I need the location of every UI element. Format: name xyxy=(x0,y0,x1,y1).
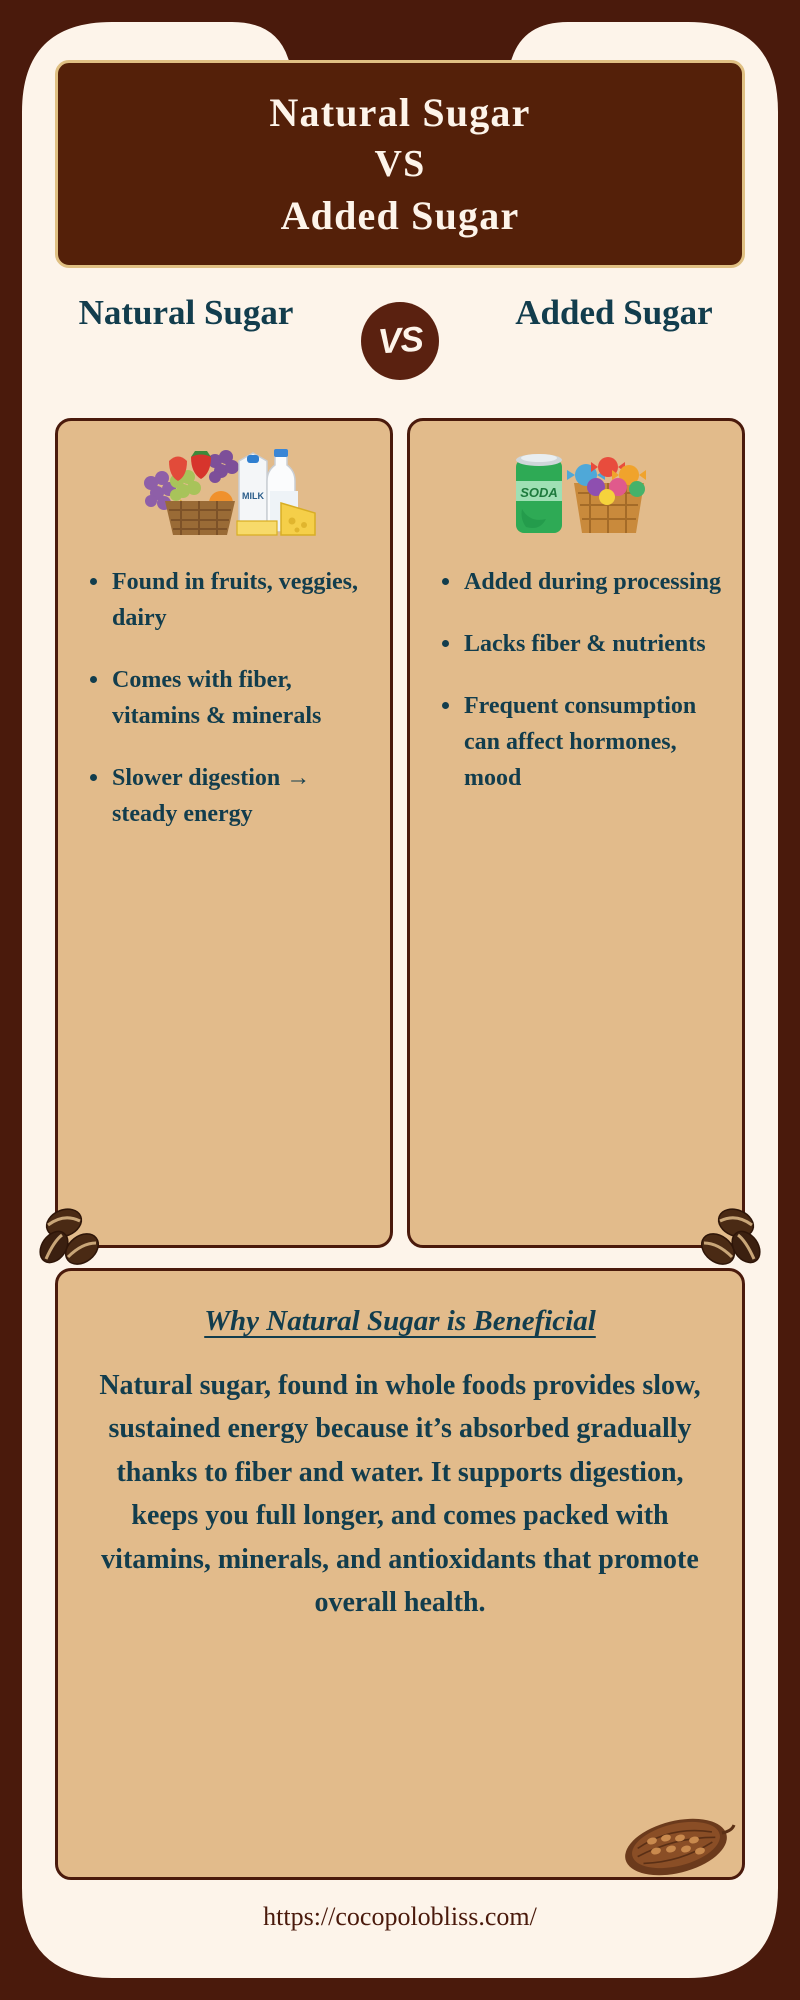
natural-sugar-card: MILK Found in fruits, veggies, dairy C xyxy=(55,418,393,1248)
svg-text:MILK: MILK xyxy=(242,491,264,501)
comparison-cards: MILK Found in fruits, veggies, dairy C xyxy=(55,418,745,1248)
added-sugar-bullets: Added during processing Lacks fiber & nu… xyxy=(426,564,726,796)
column-heading-added: Added Sugar xyxy=(489,290,739,336)
natural-sugar-art: MILK xyxy=(74,431,374,546)
column-heading-natural: Natural Sugar xyxy=(61,290,311,336)
vs-badge-label: VS xyxy=(376,319,423,362)
added-sugar-card: SODA xyxy=(407,418,745,1248)
list-item: Slower digestion → steady energy xyxy=(88,760,370,832)
footer-url[interactable]: https://cocopolobliss.com/ xyxy=(0,1902,800,1932)
list-item: Lacks fiber & nutrients xyxy=(440,626,722,662)
vs-badge: VS xyxy=(361,302,439,380)
fruit-basket-milk-cheese-icon: MILK xyxy=(129,431,319,543)
title-line-3: Added Sugar xyxy=(281,190,520,241)
benefit-body: Natural sugar, found in whole foods prov… xyxy=(88,1364,712,1624)
cocoa-pod-icon xyxy=(616,1805,736,1880)
column-headings: Natural Sugar VS Added Sugar xyxy=(55,290,745,400)
list-item: Added during processing xyxy=(440,564,722,600)
list-item: Frequent consumption can affect hormones… xyxy=(440,688,722,796)
added-sugar-art: SODA xyxy=(426,431,726,546)
svg-text:SODA: SODA xyxy=(520,485,558,500)
natural-sugar-bullets: Found in fruits, veggies, dairy Comes wi… xyxy=(74,564,374,832)
list-item: Comes with fiber, vitamins & minerals xyxy=(88,662,370,734)
list-item: Found in fruits, veggies, dairy xyxy=(88,564,370,636)
title-banner: Natural Sugar VS Added Sugar xyxy=(55,60,745,268)
title-line-1: Natural Sugar xyxy=(269,87,530,138)
coffee-beans-icon xyxy=(688,1203,766,1273)
infographic-poster: Natural Sugar VS Added Sugar Natural Sug… xyxy=(0,0,800,2000)
benefit-panel: Why Natural Sugar is Beneficial Natural … xyxy=(55,1268,745,1880)
soda-can-candy-basket-icon: SODA xyxy=(496,431,656,543)
coffee-beans-icon xyxy=(34,1203,112,1273)
title-line-2: VS xyxy=(375,140,426,189)
benefit-title: Why Natural Sugar is Beneficial xyxy=(88,1305,712,1338)
